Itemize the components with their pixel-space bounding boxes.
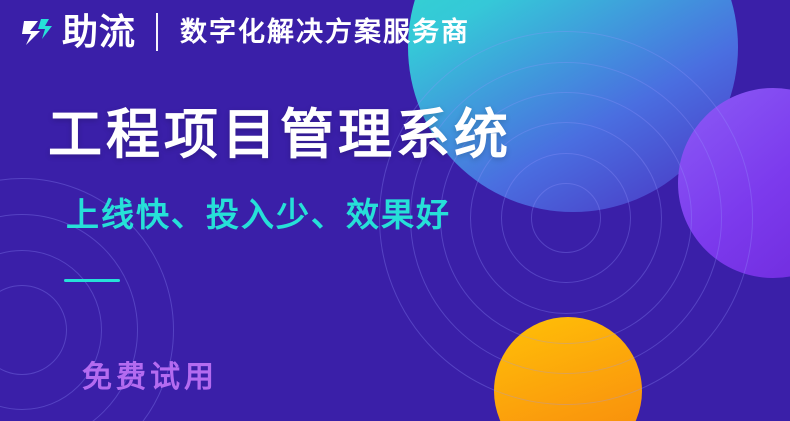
page-title: 工程项目管理系统 — [48, 90, 512, 169]
brand-lockup[interactable]: 助流 数字化解决方案服务商 — [18, 12, 470, 52]
brand-divider — [156, 13, 158, 51]
free-trial-button[interactable]: 免费试用 — [82, 352, 218, 396]
zhuliu-logo-icon — [18, 12, 58, 52]
brand-tagline: 数字化解决方案服务商 — [180, 12, 470, 52]
brand-name: 助流 — [62, 12, 136, 52]
accent-divider — [64, 279, 120, 282]
promo-banner: 助流 数字化解决方案服务商 工程项目管理系统 上线快、投入少、效果好 免费试用 — [0, 0, 790, 421]
subheadline: 上线快、投入少、效果好 — [66, 188, 451, 236]
